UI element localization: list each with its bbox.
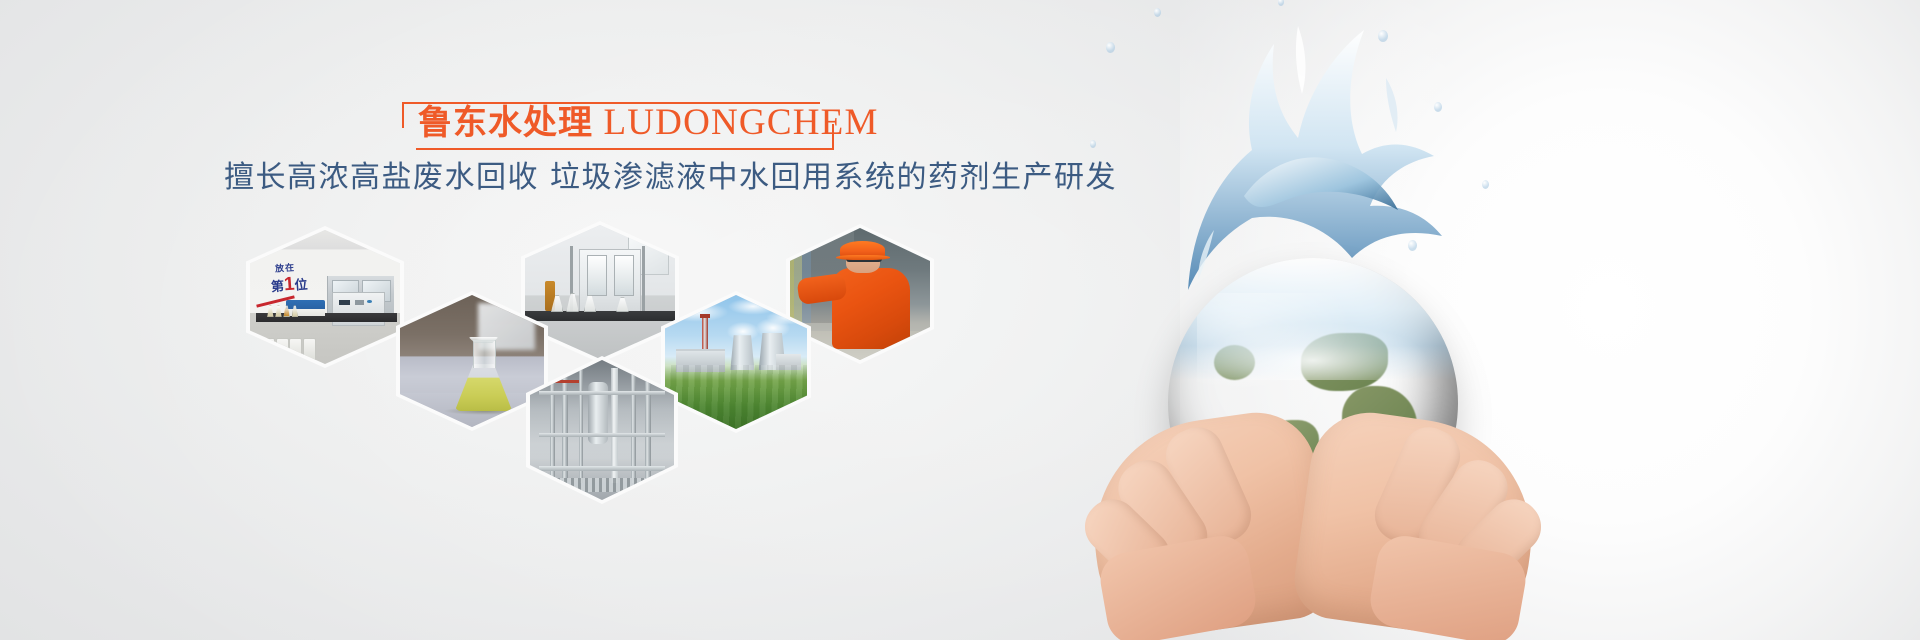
water-droplet-8 [1408, 240, 1417, 251]
water-droplet-2 [1154, 8, 1161, 17]
hexagon-photo-cluster: 放在 第1位 [0, 0, 1000, 640]
pipe-horizontal-1 [539, 391, 666, 395]
lab-slogan-line-1: 放在 [275, 260, 296, 274]
water-droplet-5 [1482, 180, 1489, 189]
pipe-horizontal-3 [539, 466, 666, 470]
water-globe-scene [1078, 0, 1548, 640]
lab-slogan-line-2: 第1位 [270, 273, 308, 298]
flask-neck [473, 340, 496, 368]
cupped-hands [1093, 382, 1533, 630]
worker-hardhat-icon [840, 241, 885, 258]
hero-banner: 鲁东水处理 LUDONGCHEM 擅长高浓高盐废水回收 垃圾渗滤液中水回用系统的… [0, 0, 1920, 640]
water-droplet-1 [1106, 42, 1115, 53]
pipe-horizontal-2 [539, 433, 666, 437]
water-droplet-6 [1090, 140, 1096, 148]
flask-cone [455, 364, 513, 411]
water-droplet-4 [1434, 102, 1442, 112]
flask-body [455, 340, 513, 411]
lab-glassware-row [265, 306, 316, 317]
lab2-flask-row [549, 295, 645, 312]
water-droplet-3 [1378, 30, 1388, 42]
lab2-bench [525, 311, 675, 322]
lab-wall-slogan: 放在 第1位 [271, 261, 325, 290]
plant-green-field [665, 365, 807, 429]
